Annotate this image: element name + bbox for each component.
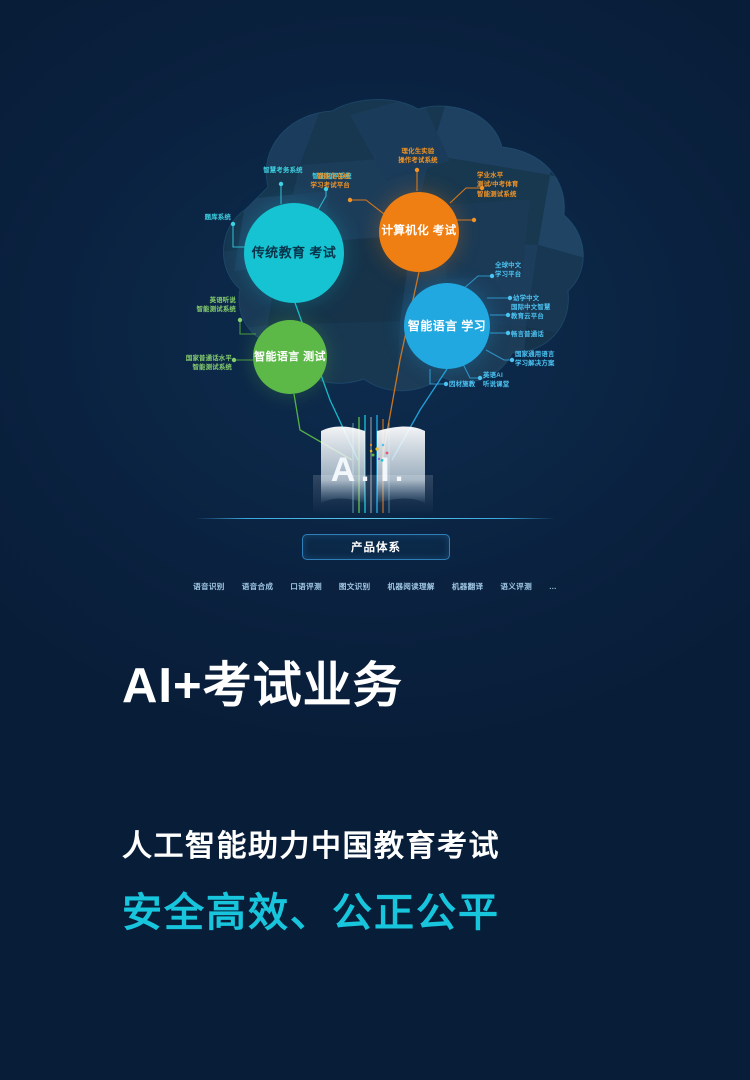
leaf-smartlang-6[interactable]: 因材施教 bbox=[449, 380, 493, 389]
node-tradition-exam-label: 传统教育 考试 bbox=[252, 244, 336, 262]
infographic-stage: 传统教育 考试 计算机化 考试 智能语言 学习 智能语言 测试 题库系统 智慧考… bbox=[0, 0, 750, 620]
page-slogan: 安全高效、公正公平 bbox=[0, 864, 750, 936]
node-computerized-exam[interactable]: 计算机化 考试 bbox=[379, 192, 459, 272]
leaf-smartlang-2[interactable]: 国际中文智慧 教育云平台 bbox=[511, 303, 571, 322]
tag-item[interactable]: 机器翻译 bbox=[452, 581, 484, 592]
tag-item[interactable]: 机器阅读理解 bbox=[387, 581, 434, 592]
tag-item[interactable]: 语音识别 bbox=[193, 581, 225, 592]
tag-item[interactable]: 口语评测 bbox=[290, 581, 322, 592]
leaf-computer-2[interactable]: 学业水平 测试/中考体育 智能测试系统 bbox=[477, 171, 541, 199]
tag-item: … bbox=[549, 582, 557, 591]
tag-item[interactable]: 图文识别 bbox=[339, 581, 371, 592]
node-computerized-exam-label: 计算机化 考试 bbox=[382, 224, 457, 240]
leaf-tradition-0[interactable]: 题库系统 bbox=[177, 213, 231, 222]
leaf-computer-1[interactable]: 理化生实验 操作考试系统 bbox=[387, 147, 449, 166]
leaf-smartlang-0[interactable]: 全球中文 学习平台 bbox=[495, 261, 551, 280]
product-system-badge[interactable]: 产品体系 bbox=[302, 534, 450, 560]
leaf-smartlang-3[interactable]: 畅言普通话 bbox=[511, 330, 569, 339]
headline-block: AI+考试业务 人工智能助力中国教育考试 安全高效、公正公平 bbox=[0, 660, 750, 936]
ai-book-illustration: A . I . bbox=[313, 415, 433, 515]
capability-tag-list: 语音识别 语音合成 口语评测 图文识别 机器阅读理解 机器翻译 语义评测 … bbox=[0, 581, 750, 592]
brain-illustration bbox=[150, 95, 610, 425]
poster-root: 传统教育 考试 计算机化 考试 智能语言 学习 智能语言 测试 题库系统 智慧考… bbox=[0, 0, 750, 1080]
leaf-smartlang-4[interactable]: 国家通用语言 学习解决方案 bbox=[515, 350, 577, 369]
leaf-smartlang-1[interactable]: 幼学中文 bbox=[513, 294, 567, 303]
page-subtitle: 人工智能助力中国教育考试 bbox=[0, 714, 750, 865]
section-divider bbox=[195, 518, 555, 519]
node-tradition-exam[interactable]: 传统教育 考试 bbox=[244, 203, 344, 303]
node-smart-language-learning-label: 智能语言 学习 bbox=[408, 318, 486, 334]
node-smart-language-test-label: 智能语言 测试 bbox=[254, 350, 326, 365]
page-title: AI+考试业务 bbox=[0, 660, 750, 714]
leaf-langtest-0[interactable]: 英语听说 智能测试系统 bbox=[178, 296, 236, 315]
node-smart-language-test[interactable]: 智能语言 测试 bbox=[253, 320, 327, 394]
node-smart-language-learning[interactable]: 智能语言 学习 bbox=[404, 283, 490, 369]
tag-item[interactable]: 语音合成 bbox=[242, 581, 274, 592]
tag-item[interactable]: 语义评测 bbox=[500, 581, 532, 592]
leaf-computer-0[interactable]: 智能化在线 学习考试平台 bbox=[290, 172, 350, 191]
product-system-badge-label: 产品体系 bbox=[351, 539, 401, 555]
leaf-langtest-1[interactable]: 国家普通话水平 智能测试系统 bbox=[168, 354, 232, 373]
